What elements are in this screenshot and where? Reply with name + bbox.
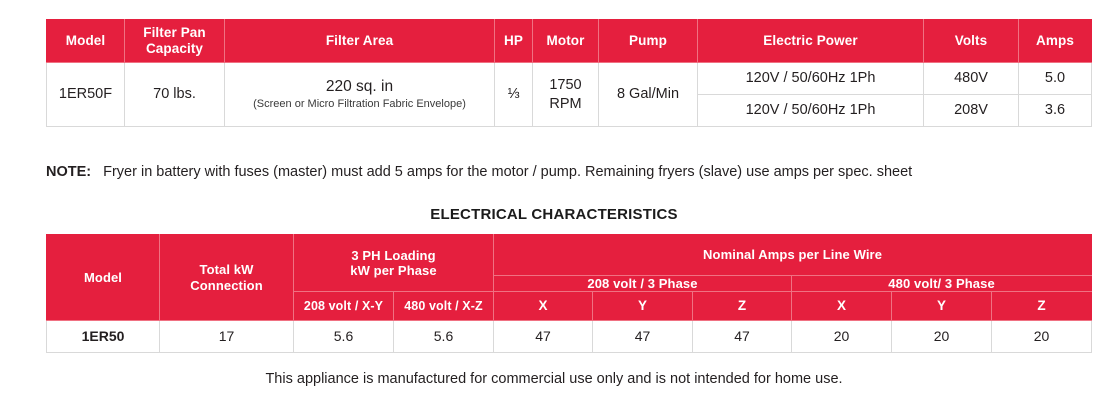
table-row: 1ER50 17 5.6 5.6 47 47 47 20 20 20 bbox=[47, 321, 1092, 353]
electrical-header-3ph-208: 208 volt / X-Y bbox=[294, 292, 394, 321]
spec-cell-filter-pan-capacity: 70 lbs. bbox=[125, 63, 225, 127]
electrical-header-row-1: Model Total kW Connection 3 PH Loading k… bbox=[47, 235, 1092, 276]
electrical-header-3ph-480: 480 volt / X-Z bbox=[394, 292, 494, 321]
spec-cell-filter-area-sub: (Screen or Micro Filtration Fabric Envel… bbox=[225, 98, 494, 111]
electrical-header-3ph-loading-line2: kW per Phase bbox=[350, 263, 436, 278]
spec-header-hp: HP bbox=[495, 20, 533, 63]
electrical-header-nominal-480: 480 volt/ 3 Phase bbox=[792, 276, 1092, 292]
spec-cell-filter-area: 220 sq. in (Screen or Micro Filtration F… bbox=[225, 63, 495, 127]
spec-cell-motor: 1750 RPM bbox=[533, 63, 599, 127]
spec-sheet-page: Model Filter Pan Capacity Filter Area HP… bbox=[0, 0, 1108, 407]
electrical-cell-model: 1ER50 bbox=[47, 321, 160, 353]
spec-cell-hp: ⅓ bbox=[495, 63, 533, 127]
spec-header-filter-pan-capacity: Filter Pan Capacity bbox=[125, 20, 225, 63]
electrical-header-nominal-208: 208 volt / 3 Phase bbox=[494, 276, 792, 292]
electrical-header-208-y: Y bbox=[593, 292, 693, 321]
spec-header-pump: Pump bbox=[599, 20, 698, 63]
electrical-header-total-kw: Total kW Connection bbox=[160, 235, 294, 321]
electrical-header-3ph-loading: 3 PH Loading kW per Phase bbox=[294, 235, 494, 292]
electrical-header-208-z: Z bbox=[693, 292, 792, 321]
electrical-cell-total-kw: 17 bbox=[160, 321, 294, 353]
electrical-cell-480-y: 20 bbox=[892, 321, 992, 353]
table-row: 1ER50F 70 lbs. 220 sq. in (Screen or Mic… bbox=[47, 63, 1092, 95]
electrical-characteristics-table: Model Total kW Connection 3 PH Loading k… bbox=[46, 234, 1092, 353]
electrical-header-nominal-amps: Nominal Amps per Line Wire bbox=[494, 235, 1092, 276]
spec-cell-model: 1ER50F bbox=[47, 63, 125, 127]
electrical-header-3ph-loading-line1: 3 PH Loading bbox=[351, 248, 435, 263]
spec-header-electric-power: Electric Power bbox=[698, 20, 924, 63]
spec-header-motor: Motor bbox=[533, 20, 599, 63]
spec-cell-volts-2: 208V bbox=[924, 95, 1019, 127]
note-line: NOTE:Fryer in battery with fuses (master… bbox=[46, 164, 912, 180]
electrical-cell-kw-208: 5.6 bbox=[294, 321, 394, 353]
spec-cell-amps-2: 3.6 bbox=[1019, 95, 1092, 127]
note-label: NOTE: bbox=[46, 164, 91, 180]
spec-cell-electric-power-2: 120V / 50/60Hz 1Ph bbox=[698, 95, 924, 127]
spec-cell-amps-1: 5.0 bbox=[1019, 63, 1092, 95]
spec-cell-filter-area-main: 220 sq. in bbox=[326, 78, 393, 95]
electrical-header-480-x: X bbox=[792, 292, 892, 321]
spec-header-filter-area: Filter Area bbox=[225, 20, 495, 63]
electrical-header-total-kw-line1: Total kW bbox=[200, 262, 254, 277]
spec-header-amps: Amps bbox=[1019, 20, 1092, 63]
spec-cell-pump: 8 Gal/Min bbox=[599, 63, 698, 127]
footer-disclaimer: This appliance is manufactured for comme… bbox=[0, 371, 1108, 387]
spec-cell-electric-power-1: 120V / 50/60Hz 1Ph bbox=[698, 63, 924, 95]
electrical-table-container: Model Total kW Connection 3 PH Loading k… bbox=[46, 234, 1092, 353]
electrical-header-total-kw-line2: Connection bbox=[190, 278, 263, 293]
spec-table: Model Filter Pan Capacity Filter Area HP… bbox=[46, 19, 1092, 127]
spec-cell-motor-line2: RPM bbox=[549, 96, 581, 112]
spec-header-filter-pan-capacity-line1: Filter Pan bbox=[143, 25, 206, 40]
spec-cell-volts-1: 480V bbox=[924, 63, 1019, 95]
spec-header-model: Model bbox=[47, 20, 125, 63]
spec-header-volts: Volts bbox=[924, 20, 1019, 63]
electrical-header-208-x: X bbox=[494, 292, 593, 321]
electrical-cell-208-y: 47 bbox=[593, 321, 693, 353]
electrical-cell-480-x: 20 bbox=[792, 321, 892, 353]
electrical-cell-480-z: 20 bbox=[992, 321, 1092, 353]
page-title: ELECTRICAL CHARACTERISTICS bbox=[0, 206, 1108, 223]
spec-table-container: Model Filter Pan Capacity Filter Area HP… bbox=[46, 19, 1092, 127]
spec-header-filter-pan-capacity-line2: Capacity bbox=[146, 41, 203, 56]
electrical-header-model: Model bbox=[47, 235, 160, 321]
electrical-cell-208-z: 47 bbox=[693, 321, 792, 353]
spec-cell-motor-line1: 1750 bbox=[549, 77, 581, 93]
electrical-header-480-y: Y bbox=[892, 292, 992, 321]
electrical-cell-kw-480: 5.6 bbox=[394, 321, 494, 353]
note-text: Fryer in battery with fuses (master) mus… bbox=[103, 164, 912, 180]
electrical-cell-208-x: 47 bbox=[494, 321, 593, 353]
electrical-header-480-z: Z bbox=[992, 292, 1092, 321]
